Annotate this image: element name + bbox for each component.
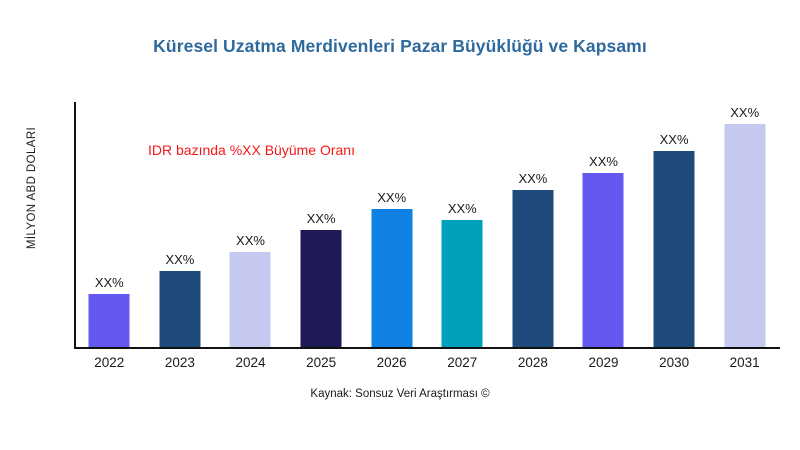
bar[interactable]	[583, 173, 624, 348]
bar[interactable]	[89, 294, 130, 347]
bar-group: XX%	[356, 102, 427, 347]
bar[interactable]	[512, 190, 553, 348]
bar-value-label: XX%	[589, 154, 618, 169]
bar-group: XX%	[568, 102, 639, 347]
x-tick-label: 2026	[356, 355, 427, 370]
bar-value-label: XX%	[307, 211, 336, 226]
bars-layer: XX%XX%XX%XX%XX%XX%XX%XX%XX%XX%	[74, 102, 780, 349]
bar-value-label: XX%	[448, 201, 477, 216]
bar[interactable]	[301, 230, 342, 347]
x-tick-label: 2028	[498, 355, 569, 370]
bar-group: XX%	[709, 102, 780, 347]
bar-value-label: XX%	[518, 171, 547, 186]
x-tick-label: 2025	[286, 355, 357, 370]
chart-figure: Küresel Uzatma Merdivenleri Pazar Büyükl…	[0, 0, 800, 450]
bar[interactable]	[724, 124, 765, 348]
source-note: Kaynak: Sonsuz Veri Araştırması ©	[0, 388, 800, 400]
bar[interactable]	[442, 220, 483, 348]
x-tick-label: 2023	[145, 355, 216, 370]
bar-group: XX%	[498, 102, 569, 347]
bar-value-label: XX%	[95, 275, 124, 290]
y-axis-label: MİLYON ABD DOLARI	[26, 68, 38, 308]
bar[interactable]	[654, 151, 695, 347]
bar-group: XX%	[215, 102, 286, 347]
bar-value-label: XX%	[236, 233, 265, 248]
bar[interactable]	[230, 252, 271, 348]
x-tick-label: 2030	[639, 355, 710, 370]
x-tick-label: 2031	[709, 355, 780, 370]
bar[interactable]	[371, 209, 412, 347]
bar-value-label: XX%	[377, 190, 406, 205]
bar-value-label: XX%	[660, 132, 689, 147]
bar-group: XX%	[286, 102, 357, 347]
x-tick-label: 2024	[215, 355, 286, 370]
bar-value-label: XX%	[730, 105, 759, 120]
x-axis-tick-labels: 2022202320242025202620272028202920302031	[74, 355, 780, 377]
bar[interactable]	[159, 271, 200, 348]
bar-group: XX%	[639, 102, 710, 347]
x-tick-label: 2029	[568, 355, 639, 370]
bar-group: XX%	[145, 102, 216, 347]
bar-value-label: XX%	[165, 252, 194, 267]
bar-group: XX%	[74, 102, 145, 347]
growth-rate-annotation: IDR bazında %XX Büyüme Oranı	[148, 142, 355, 158]
x-tick-label: 2027	[427, 355, 498, 370]
x-tick-label: 2022	[74, 355, 145, 370]
plot-area: XX%XX%XX%XX%XX%XX%XX%XX%XX%XX%	[74, 102, 780, 349]
chart-title: Küresel Uzatma Merdivenleri Pazar Büyükl…	[0, 36, 800, 57]
bar-group: XX%	[427, 102, 498, 347]
